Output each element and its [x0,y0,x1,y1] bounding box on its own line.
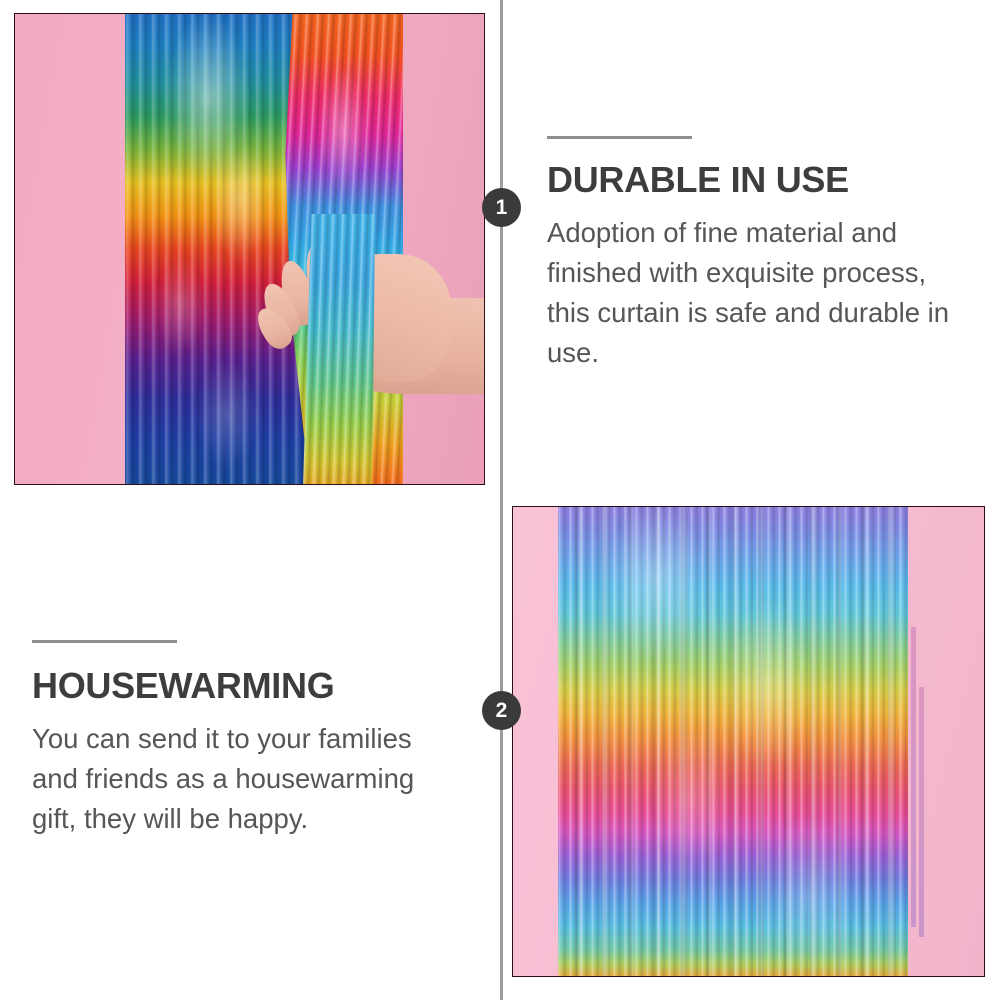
heading-rule [32,640,177,643]
hand [267,224,485,439]
feature-text-block-1: DURABLE IN USE Adoption of fine material… [547,136,967,373]
gripped-curtain-strips [301,214,375,485]
feature-badge-2: 2 [482,691,521,730]
curtain-strip-texture [301,214,375,485]
loose-curtain-strip [911,627,916,927]
infographic-canvas: DURABLE IN USE Adoption of fine material… [0,0,1000,1000]
feature-heading-1: DURABLE IN USE [547,161,967,199]
photo-1-content [15,14,484,484]
feature-heading-2: HOUSEWARMING [32,667,462,705]
loose-curtain-strip [919,687,924,937]
curtain-sheen-highlight [558,506,908,977]
feature-badge-1: 1 [482,188,521,227]
photo-2-content [513,507,984,976]
vertical-divider [500,0,503,1000]
heading-rule [547,136,692,139]
product-photo-1 [14,13,485,485]
curtain-full-panel [558,506,908,977]
product-photo-2 [512,506,985,977]
feature-text-block-2: HOUSEWARMING You can send it to your fam… [32,640,462,839]
feature-body-1: Adoption of fine material and finished w… [547,213,967,373]
feature-body-2: You can send it to your families and fri… [32,719,462,839]
